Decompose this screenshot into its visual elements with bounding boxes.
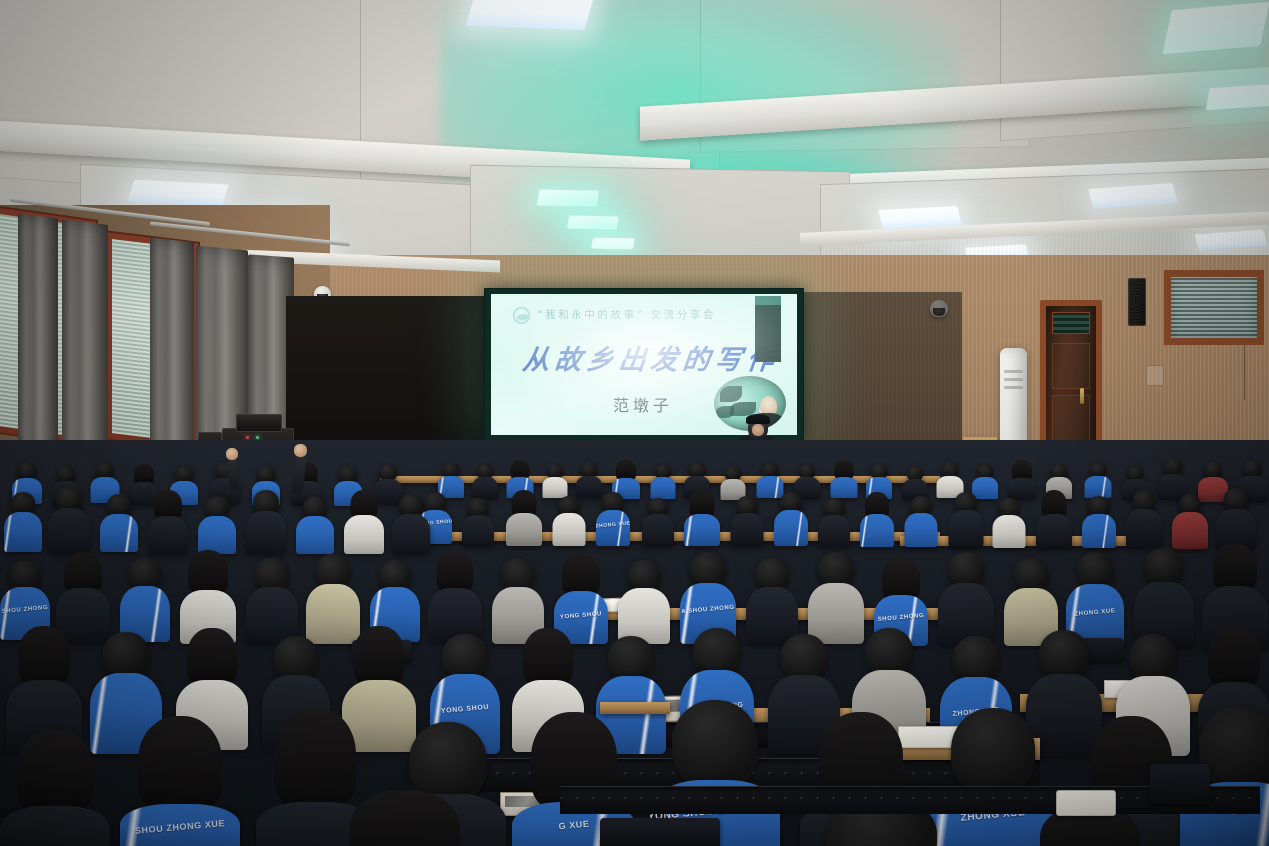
curtain[interactable] xyxy=(62,219,108,461)
audience-member xyxy=(344,490,384,552)
audience-member: ZHONG XUE xyxy=(596,492,630,544)
audience-member xyxy=(902,466,927,498)
chair xyxy=(1150,764,1210,804)
audience-member xyxy=(552,496,585,544)
audience-member: SHOU ZHONG XUE xyxy=(120,716,240,846)
audience-member xyxy=(472,464,497,497)
ceiling-light xyxy=(567,216,619,230)
wall-plate xyxy=(1146,365,1164,386)
audience-member xyxy=(720,466,745,498)
ceiling-light xyxy=(591,238,635,250)
audience-member xyxy=(774,492,808,544)
window-blinds xyxy=(1164,270,1264,345)
door-handle[interactable] xyxy=(1080,388,1084,404)
school-emblem-icon xyxy=(513,307,530,324)
audience-member xyxy=(576,462,602,496)
audience-member xyxy=(1036,490,1072,546)
audience-member xyxy=(120,558,170,640)
tissue-pack xyxy=(1056,790,1116,816)
audience-member xyxy=(1172,494,1208,548)
audience-member xyxy=(1084,462,1111,496)
audience-member xyxy=(756,462,783,496)
audience-member xyxy=(4,492,42,550)
audience-member xyxy=(1134,548,1194,646)
wall-cable xyxy=(1244,345,1245,400)
audience-member xyxy=(936,462,963,496)
audience-member xyxy=(1126,490,1162,546)
door-glass xyxy=(1052,312,1090,333)
audience-member xyxy=(0,730,110,846)
audience-member xyxy=(904,496,937,545)
audience-member xyxy=(730,496,763,544)
slide-title-text: 从故乡出发的写作 xyxy=(521,338,781,377)
audience-member xyxy=(246,558,298,642)
audience-member xyxy=(684,490,720,545)
ceiling-light xyxy=(1162,2,1269,54)
slide-dark-band xyxy=(755,296,781,362)
audience-member xyxy=(830,460,857,495)
chair xyxy=(600,818,720,846)
audience-member xyxy=(948,492,983,545)
ceiling-light xyxy=(466,0,595,30)
audience-member xyxy=(100,494,138,550)
slide-dark-band-cap xyxy=(755,296,781,305)
audience-member xyxy=(330,790,480,846)
audience-member xyxy=(860,492,894,544)
wall-speaker xyxy=(1128,278,1146,326)
curtain[interactable] xyxy=(18,214,58,457)
audience-member xyxy=(938,552,994,644)
audience-member xyxy=(428,552,482,640)
stage-shadow xyxy=(286,296,486,448)
ceiling-light xyxy=(1206,84,1269,111)
slide-author-text: 范墩子 xyxy=(613,392,673,416)
stage-shadow xyxy=(802,292,962,450)
audience-member xyxy=(650,464,675,497)
audience-member xyxy=(818,498,850,545)
audience-member xyxy=(392,494,430,552)
audience-member xyxy=(198,496,236,552)
audience-member xyxy=(992,498,1025,546)
audience-member xyxy=(1008,460,1036,496)
curtain[interactable] xyxy=(150,238,194,467)
audience-member xyxy=(542,464,567,496)
audience-member xyxy=(148,490,188,552)
ceiling-light xyxy=(537,189,600,206)
audience-member xyxy=(642,498,674,544)
audience-member xyxy=(246,490,286,552)
audience-member xyxy=(618,560,670,642)
audience-area: YONG SHOU ZHONG XUE xyxy=(0,440,1269,846)
audience-member xyxy=(48,486,90,552)
audience-member xyxy=(1082,496,1116,546)
audience-member xyxy=(438,462,464,496)
audience-member xyxy=(612,460,640,496)
audience-member xyxy=(1158,458,1188,498)
audience-member xyxy=(1216,488,1256,548)
audience-member xyxy=(462,498,494,544)
lecture-hall-photo: “我和永中的故事” 交流分享会 从故乡出发的写作 范墩子 xyxy=(0,0,1269,846)
audience-member xyxy=(506,490,542,544)
slide-header-text: “我和永中的故事” 交流分享会 xyxy=(537,307,716,322)
audience-member xyxy=(296,496,334,552)
